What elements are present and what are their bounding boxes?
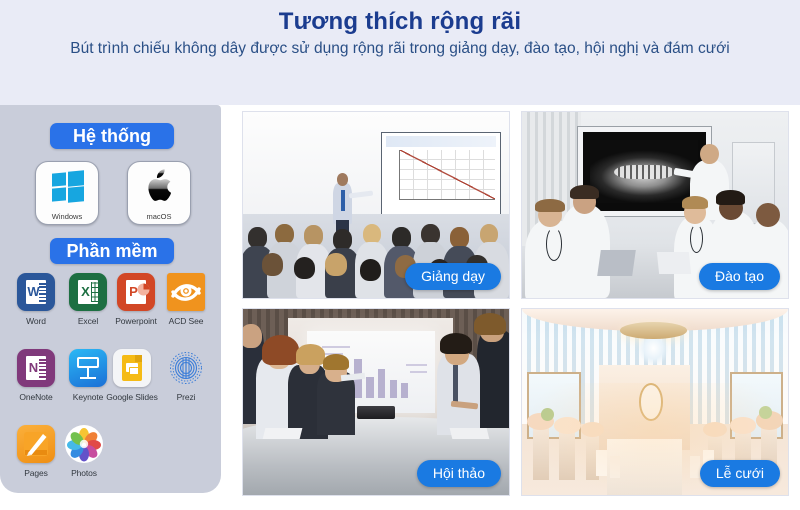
gallery-panel-le-cuoi[interactable]: Lễ cưới (522, 309, 788, 495)
app-label-powerpoint: Powerpoint (108, 316, 164, 326)
app-label-onenote: OneNote (8, 392, 64, 402)
page-header: Tương thích rộng rãi Bút trình chiếu khô… (0, 0, 800, 105)
os-label-windows: Windows (36, 212, 98, 221)
panel-badge-giang-day: Giảng dạy (405, 263, 501, 290)
photos-icon (65, 425, 103, 463)
software-row-2: N OneNote Keynote (0, 349, 221, 425)
keynote-icon (69, 349, 107, 387)
app-item-google-slides[interactable]: Google Slides (104, 349, 160, 402)
app-label-acdsee: ACD See (158, 316, 214, 326)
app-label-google-slides: Google Slides (104, 392, 160, 402)
panel-badge-le-cuoi: Lễ cưới (700, 460, 780, 487)
app-item-onenote[interactable]: N OneNote (8, 349, 64, 402)
page-subtitle: Bút trình chiếu không dây được sử dụng r… (0, 40, 800, 58)
panel-badge-hoi-thao: Hội thảo (417, 460, 501, 487)
app-item-acdsee[interactable]: ACD See (158, 273, 214, 326)
apple-logo-icon (145, 168, 175, 204)
app-item-prezi[interactable]: Prezi (158, 349, 214, 402)
prezi-icon (167, 349, 205, 387)
gallery-panel-dao-tao[interactable]: Đào tạo (522, 112, 788, 298)
software-row-1: W Word X Excel P (0, 273, 221, 349)
powerpoint-icon: P (117, 273, 155, 311)
pages-icon (17, 425, 55, 463)
os-tile-macos[interactable]: macOS (127, 161, 191, 225)
windows-logo-icon (52, 171, 84, 203)
onenote-icon: N (17, 349, 55, 387)
os-label-macos: macOS (128, 212, 190, 221)
app-item-photos[interactable]: Photos (56, 425, 112, 478)
software-row-3: Pages (0, 425, 221, 501)
section-heading-phan-mem: Phần mềm (50, 238, 174, 264)
word-icon: W (17, 273, 55, 311)
software-icon-grid: W Word X Excel P (0, 273, 221, 501)
os-tile-windows[interactable]: Windows (35, 161, 99, 225)
gallery-panel-hoi-thao[interactable]: Hội thảo (243, 309, 509, 495)
app-item-word[interactable]: W Word (8, 273, 64, 326)
gallery-panel-giang-day[interactable]: Giảng dạy (243, 112, 509, 298)
app-label-prezi: Prezi (158, 392, 214, 402)
page-title: Tương thích rộng rãi (0, 8, 800, 36)
section-heading-he-thong: Hệ thống (50, 123, 174, 149)
acdsee-icon (167, 273, 205, 311)
app-label-photos: Photos (56, 468, 112, 478)
app-label-word: Word (8, 316, 64, 326)
compatibility-sidebar: Hệ thống Windows macOS (0, 105, 221, 493)
page-root: Tương thích rộng rãi Bút trình chiếu khô… (0, 0, 800, 510)
excel-icon: X (69, 273, 107, 311)
panel-badge-dao-tao: Đào tạo (699, 263, 780, 290)
google-slides-icon (113, 349, 151, 387)
app-item-powerpoint[interactable]: P Powerpoint (108, 273, 164, 326)
